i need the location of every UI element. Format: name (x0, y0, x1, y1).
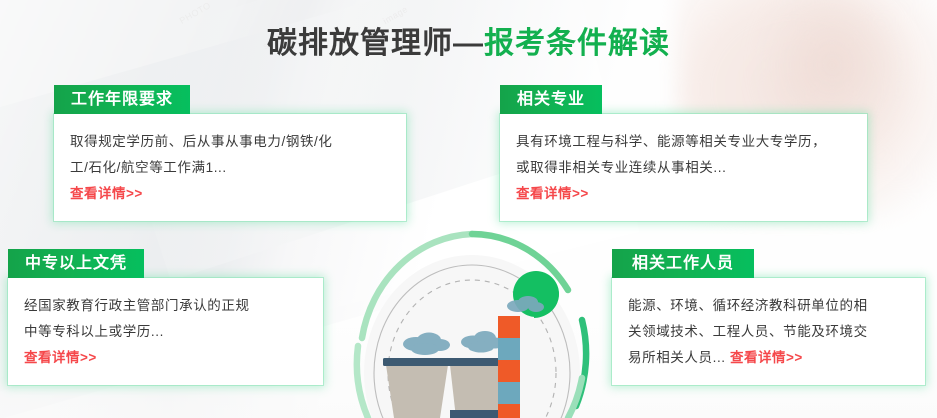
card-text-line: 经国家教育行政主管部门承认的正规 (24, 293, 307, 319)
card-related-staff: 相关工作人员 能源、环境、循环经济教科研单位的相 关领域技术、工程人员、节能及环… (612, 249, 925, 385)
card-work-years: 工作年限要求 取得规定学历前、后从事从事电力/钢铁/化 工/石化/航空等工作满1… (54, 85, 406, 221)
card-text-line: 或取得非相关专业连续从事相关... (516, 155, 851, 181)
view-details-link[interactable]: 查看详情>> (24, 345, 307, 371)
card-text-line: 中等专科以上或学历... (24, 319, 307, 345)
card-header-work-years: 工作年限要求 (54, 85, 190, 114)
card-header-related-staff: 相关工作人员 (612, 249, 754, 278)
card-text-line: 具有环境工程与科学、能源等相关专业大专学历， (516, 129, 851, 155)
card-text-line: 关领域技术、工程人员、节能及环境交 (628, 319, 909, 345)
page-title-main: 碳排放管理师— (267, 27, 484, 60)
card-body-work-years: 取得规定学历前、后从事从事电力/钢铁/化 工/石化/航空等工作满1... 查看详… (54, 114, 406, 221)
card-related-major: 相关专业 具有环境工程与科学、能源等相关专业大专学历， 或取得非相关专业连续从事… (500, 85, 867, 221)
card-header-related-major: 相关专业 (500, 85, 602, 114)
card-body-diploma: 经国家教育行政主管部门承认的正规 中等专科以上或学历... 查看详情>> (8, 278, 323, 385)
page-title: 碳排放管理师—报考条件解读 (0, 18, 937, 62)
card-body-related-staff: 能源、环境、循环经济教科研单位的相 关领域技术、工程人员、节能及环境交 易所相关… (612, 278, 925, 385)
card-text-line: 能源、环境、循环经济教科研单位的相 (628, 293, 909, 319)
card-diploma: 中专以上文凭 经国家教育行政主管部门承认的正规 中等专科以上或学历... 查看详… (8, 249, 323, 385)
card-text-tail: 易所相关人员... (628, 350, 726, 365)
view-details-link[interactable]: 查看详情>> (730, 350, 803, 365)
view-details-link[interactable]: 查看详情>> (70, 181, 390, 207)
card-text-line-with-link: 易所相关人员... 查看详情>> (628, 345, 909, 371)
view-details-link[interactable]: 查看详情>> (516, 181, 851, 207)
card-header-diploma: 中专以上文凭 (8, 249, 144, 278)
carbon-emission-plant-illustration (330, 228, 614, 418)
page-title-accent: 报考条件解读 (484, 27, 670, 60)
card-text-line: 工/石化/航空等工作满1... (70, 155, 390, 181)
card-text-line: 取得规定学历前、后从事从事电力/钢铁/化 (70, 129, 390, 155)
card-body-related-major: 具有环境工程与科学、能源等相关专业大专学历， 或取得非相关专业连续从事相关...… (500, 114, 867, 221)
